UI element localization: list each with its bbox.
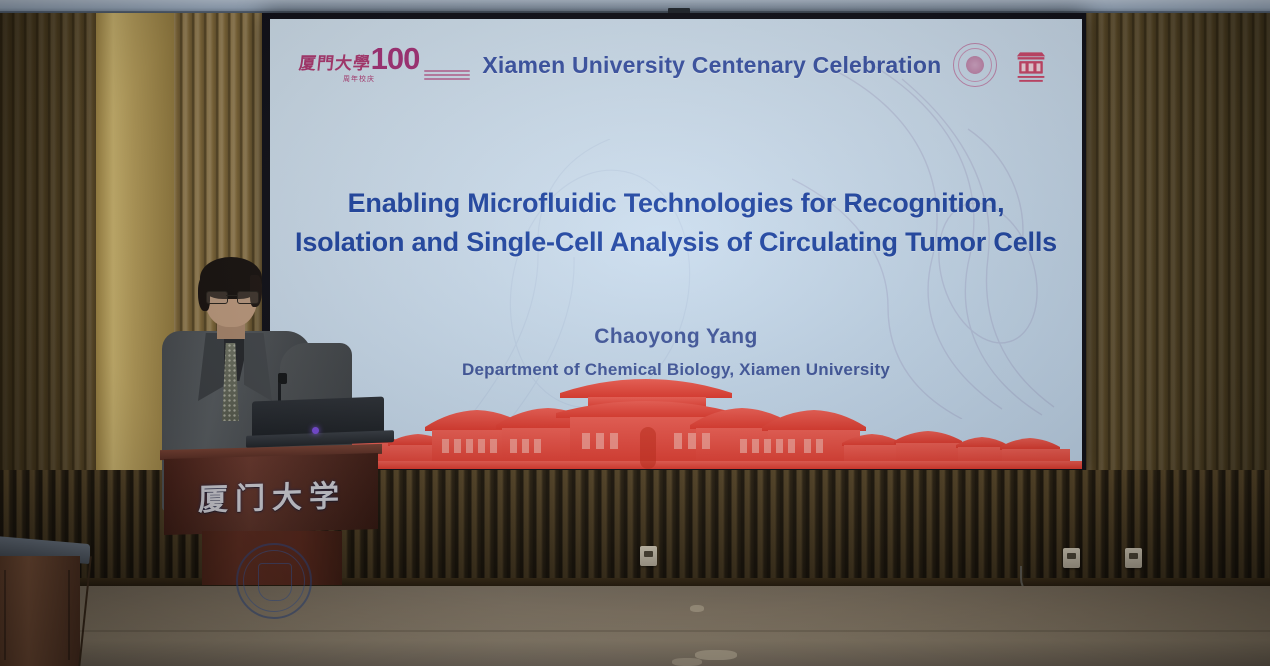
side-table	[0, 540, 90, 666]
podium: 厦门大学	[160, 447, 382, 585]
podium-inscription: 厦门大学	[182, 470, 362, 519]
logo-chinese-name: 厦門大學	[298, 55, 372, 72]
university-seal-icon	[953, 43, 997, 87]
floor-marker	[690, 605, 704, 612]
logo-subtitle: 周年校庆	[343, 74, 375, 84]
logo-microtext	[424, 70, 470, 80]
presenter-glasses	[206, 291, 258, 302]
floor-seam	[0, 630, 1270, 632]
glasses-lens-right	[237, 291, 259, 304]
wall-outlet-left[interactable]	[640, 546, 657, 566]
lecture-hall-scene: 厦門大學 100 周年校庆 Xiamen University Centenar…	[0, 0, 1270, 666]
podium-university-seal-icon	[236, 543, 312, 619]
centenary-logo: 厦門大學 100 周年校庆	[299, 46, 471, 83]
slide-header-title: Xiamen University Centenary Celebration	[482, 52, 941, 79]
podium-seal-crest	[258, 563, 292, 601]
centenary-gate-icon	[1009, 43, 1053, 87]
slide-title: Enabling Microfluidic Technologies for R…	[270, 184, 1082, 262]
slide-title-line-1: Enabling Microfluidic Technologies for R…	[270, 184, 1082, 223]
seal-inner-emblem	[966, 56, 984, 74]
presenter: 厦门大学	[160, 255, 400, 585]
glasses-bridge	[226, 295, 237, 296]
slide-header: 厦門大學 100 周年校庆 Xiamen University Centenar…	[270, 41, 1082, 89]
glasses-lens-left	[206, 291, 228, 304]
side-table-panel	[4, 570, 70, 660]
floor-object	[695, 650, 737, 660]
logo-hundred: 100	[371, 46, 420, 71]
wall-outlet-center-right[interactable]	[1063, 548, 1080, 568]
floor-reflection	[0, 586, 1270, 666]
wall-outlet-right[interactable]	[1125, 548, 1142, 568]
laptop-power-led-icon	[312, 427, 319, 434]
floor-object-secondary	[672, 658, 702, 666]
